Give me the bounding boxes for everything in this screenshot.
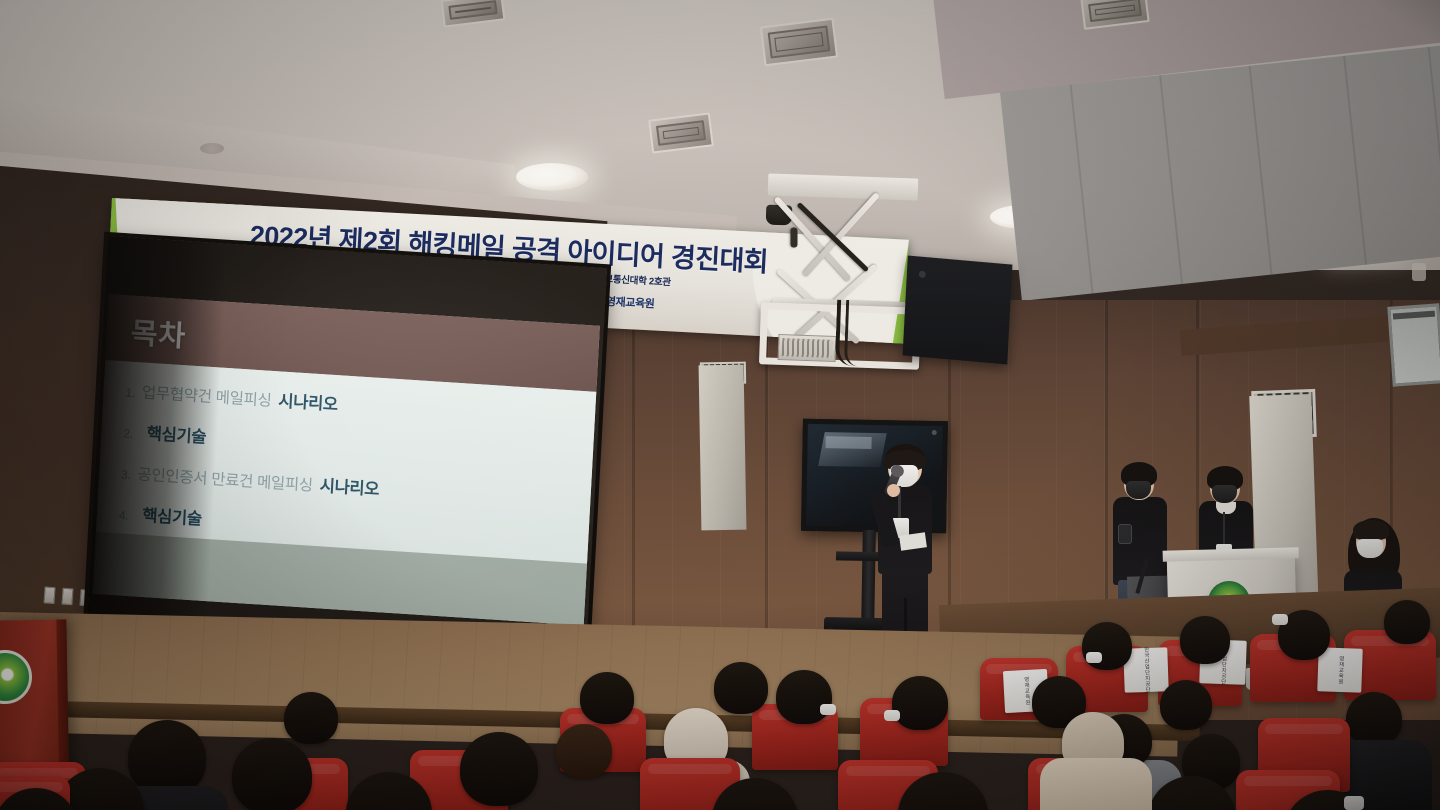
- reserved-seat-text: 영재교육원: [1335, 655, 1344, 684]
- audience-shoulders: [1040, 758, 1152, 810]
- face-mask: [1272, 614, 1288, 625]
- projector-unit: [778, 334, 837, 362]
- mobile-phone: [1118, 524, 1132, 544]
- tv-power-led-icon: [932, 430, 937, 435]
- reserved-seat-card: 영재교육원: [1317, 647, 1363, 693]
- face-mask: [820, 704, 836, 715]
- reserved-seat-text: 영재교육원: [1021, 676, 1031, 705]
- reserved-seat-text: 한국산업단지공단: [1141, 647, 1151, 693]
- audience-head: [1180, 616, 1230, 664]
- audience-head: [232, 738, 312, 810]
- ceiling-speaker: [903, 255, 1013, 364]
- audience-head: [1384, 600, 1430, 644]
- auditorium-photo: 2022년 제2회 해킹메일 공격 아이디어 경진대회 ▸일시: 2022. 1…: [0, 0, 1440, 810]
- audience-head: [714, 662, 768, 714]
- audience-head: [1346, 692, 1402, 746]
- audience-head: [892, 676, 948, 730]
- face-mask: [1086, 652, 1102, 663]
- face-mask: [1344, 796, 1364, 810]
- audience-head: [556, 724, 612, 778]
- audience-head: [284, 692, 338, 744]
- audience-head: [580, 672, 634, 724]
- tv-reflection: [825, 436, 871, 449]
- audience-head: [776, 670, 832, 724]
- audience-head: [128, 720, 206, 796]
- audience-head: [1160, 680, 1212, 730]
- face-mask: [1357, 539, 1383, 558]
- audience-seating: 영재교육원 한국산업단지공단 한국산업단지공단 영재교육원: [0, 600, 1440, 810]
- projector-cables: [835, 300, 863, 367]
- audience-head: [460, 732, 538, 806]
- face-mask: [884, 710, 900, 721]
